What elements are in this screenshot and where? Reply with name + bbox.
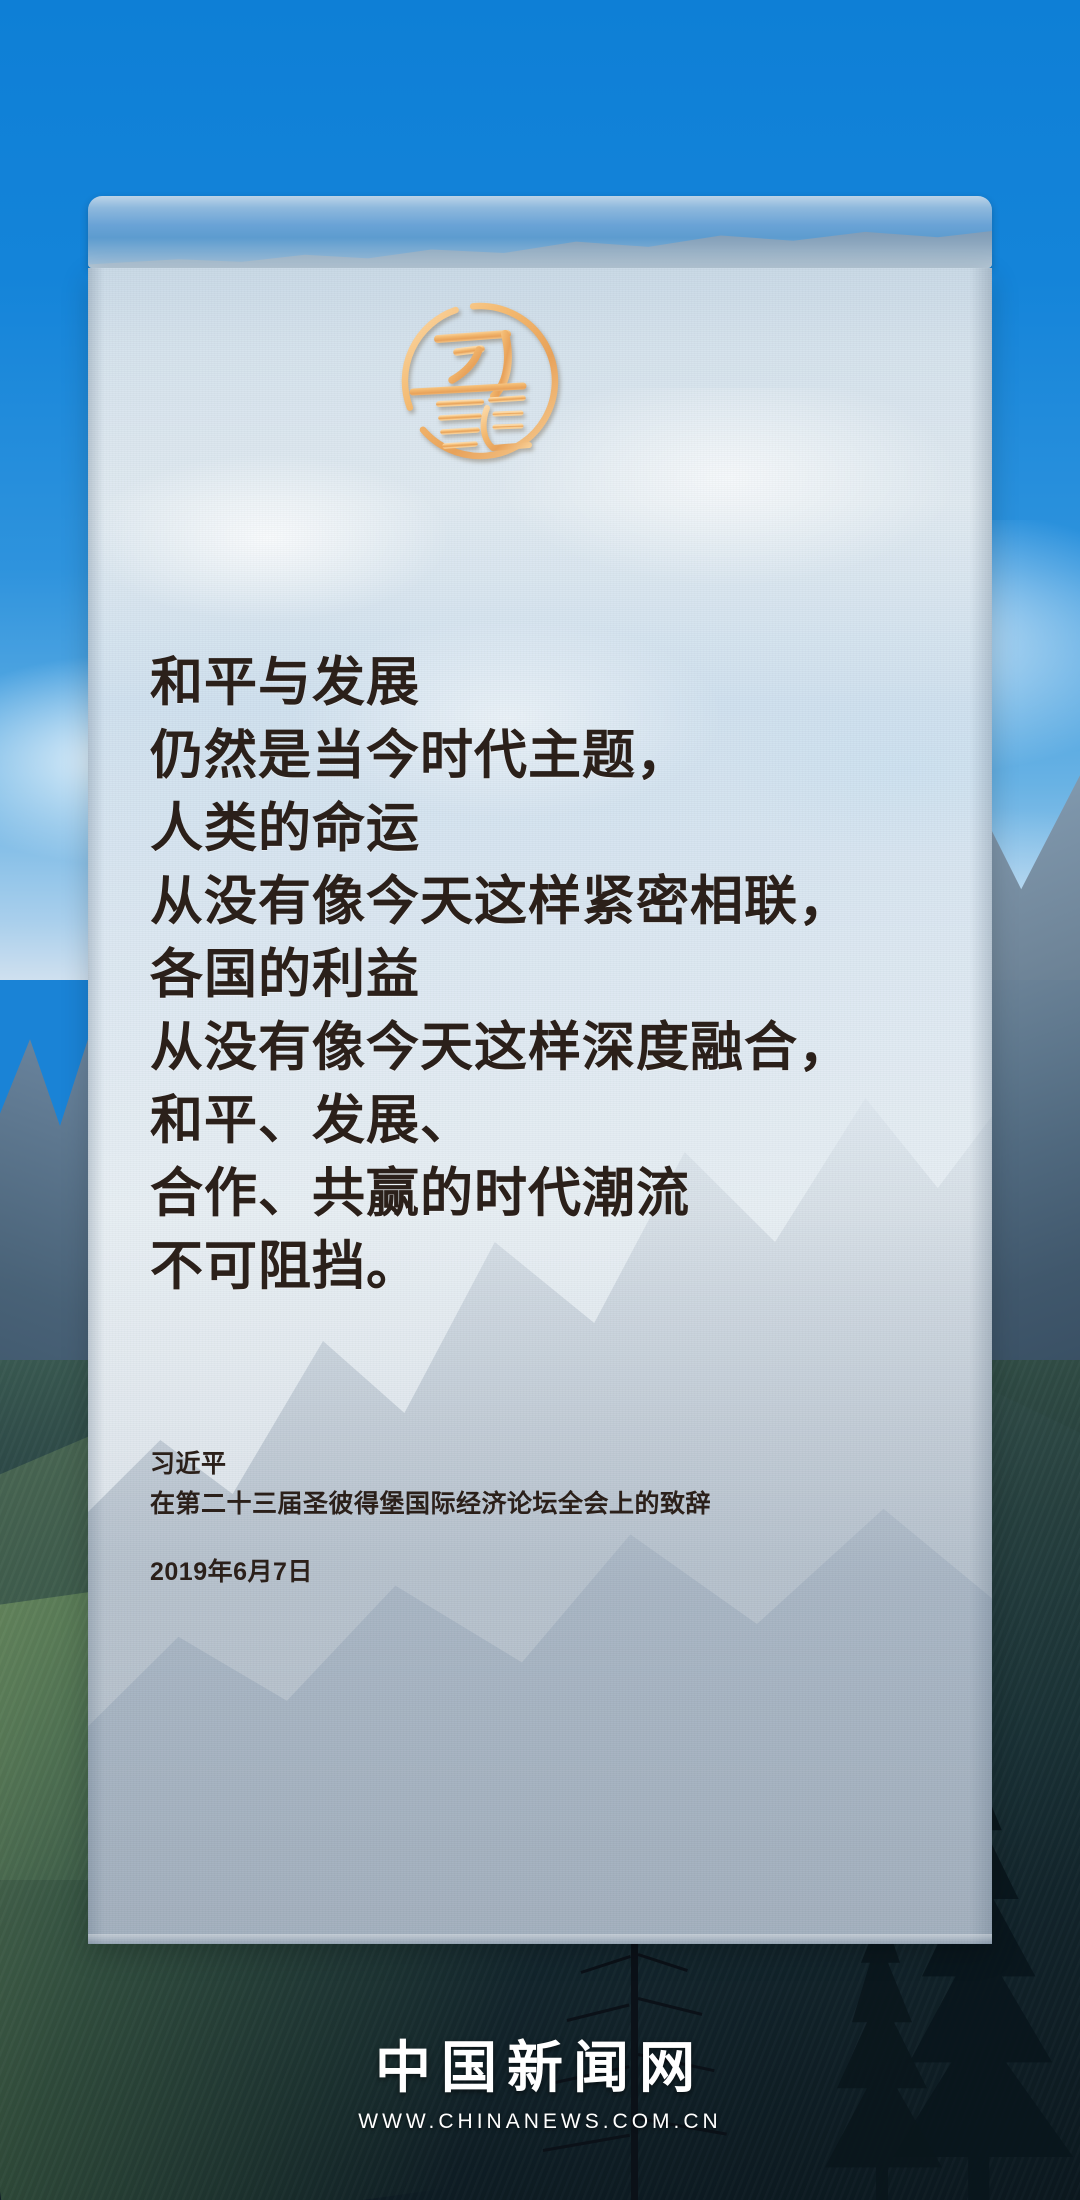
poster: 和平与发展 仍然是当今时代主题， 人类的命运 从没有像今天这样紧密相联， 各国的… (0, 0, 1080, 2200)
paper-bottom-edge (88, 1934, 992, 1944)
attribution-date: 2019年6月7日 (150, 1552, 950, 1592)
quote-line: 仍然是当今时代主题， (150, 719, 970, 792)
quote-block: 和平与发展 仍然是当今时代主题， 人类的命运 从没有像今天这样紧密相联， 各国的… (150, 646, 970, 1303)
paper-left-edge (88, 268, 104, 1944)
attribution-occasion: 在第二十三届圣彼得堡国际经济论坛全会上的致辞 (150, 1484, 950, 1524)
quote-line: 合作、共赢的时代潮流 (150, 1157, 970, 1230)
quote-line: 从没有像今天这样紧密相联， (150, 865, 970, 938)
scroll-top-roller (88, 196, 992, 268)
attribution-block: 习近平 在第二十三届圣彼得堡国际经济论坛全会上的致辞 2019年6月7日 (150, 1444, 950, 1592)
brand-website: WWW.CHINANEWS.COM.CN (0, 2110, 1080, 2134)
xi-yan-dao-seal-icon (395, 296, 565, 466)
quote-line: 各国的利益 (150, 938, 970, 1011)
quote-line: 和平与发展 (150, 646, 970, 719)
attribution-speaker: 习近平 (150, 1444, 950, 1484)
quote-line: 不可阻挡。 (150, 1230, 970, 1303)
scroll-roller-peaks (88, 224, 992, 268)
brand-logo-text: 中国新闻网 (0, 2040, 1080, 2096)
scroll-paper: 和平与发展 仍然是当今时代主题， 人类的命运 从没有像今天这样紧密相联， 各国的… (88, 268, 992, 1944)
quote-line: 从没有像今天这样深度融合， (150, 1011, 970, 1084)
paper-right-edge (970, 268, 992, 1944)
quote-line: 和平、发展、 (150, 1084, 970, 1157)
scroll-panel: 和平与发展 仍然是当今时代主题， 人类的命运 从没有像今天这样紧密相联， 各国的… (88, 196, 992, 1944)
brand-block: 中国新闻网 WWW.CHINANEWS.COM.CN (0, 2040, 1080, 2134)
quote-line: 人类的命运 (150, 792, 970, 865)
